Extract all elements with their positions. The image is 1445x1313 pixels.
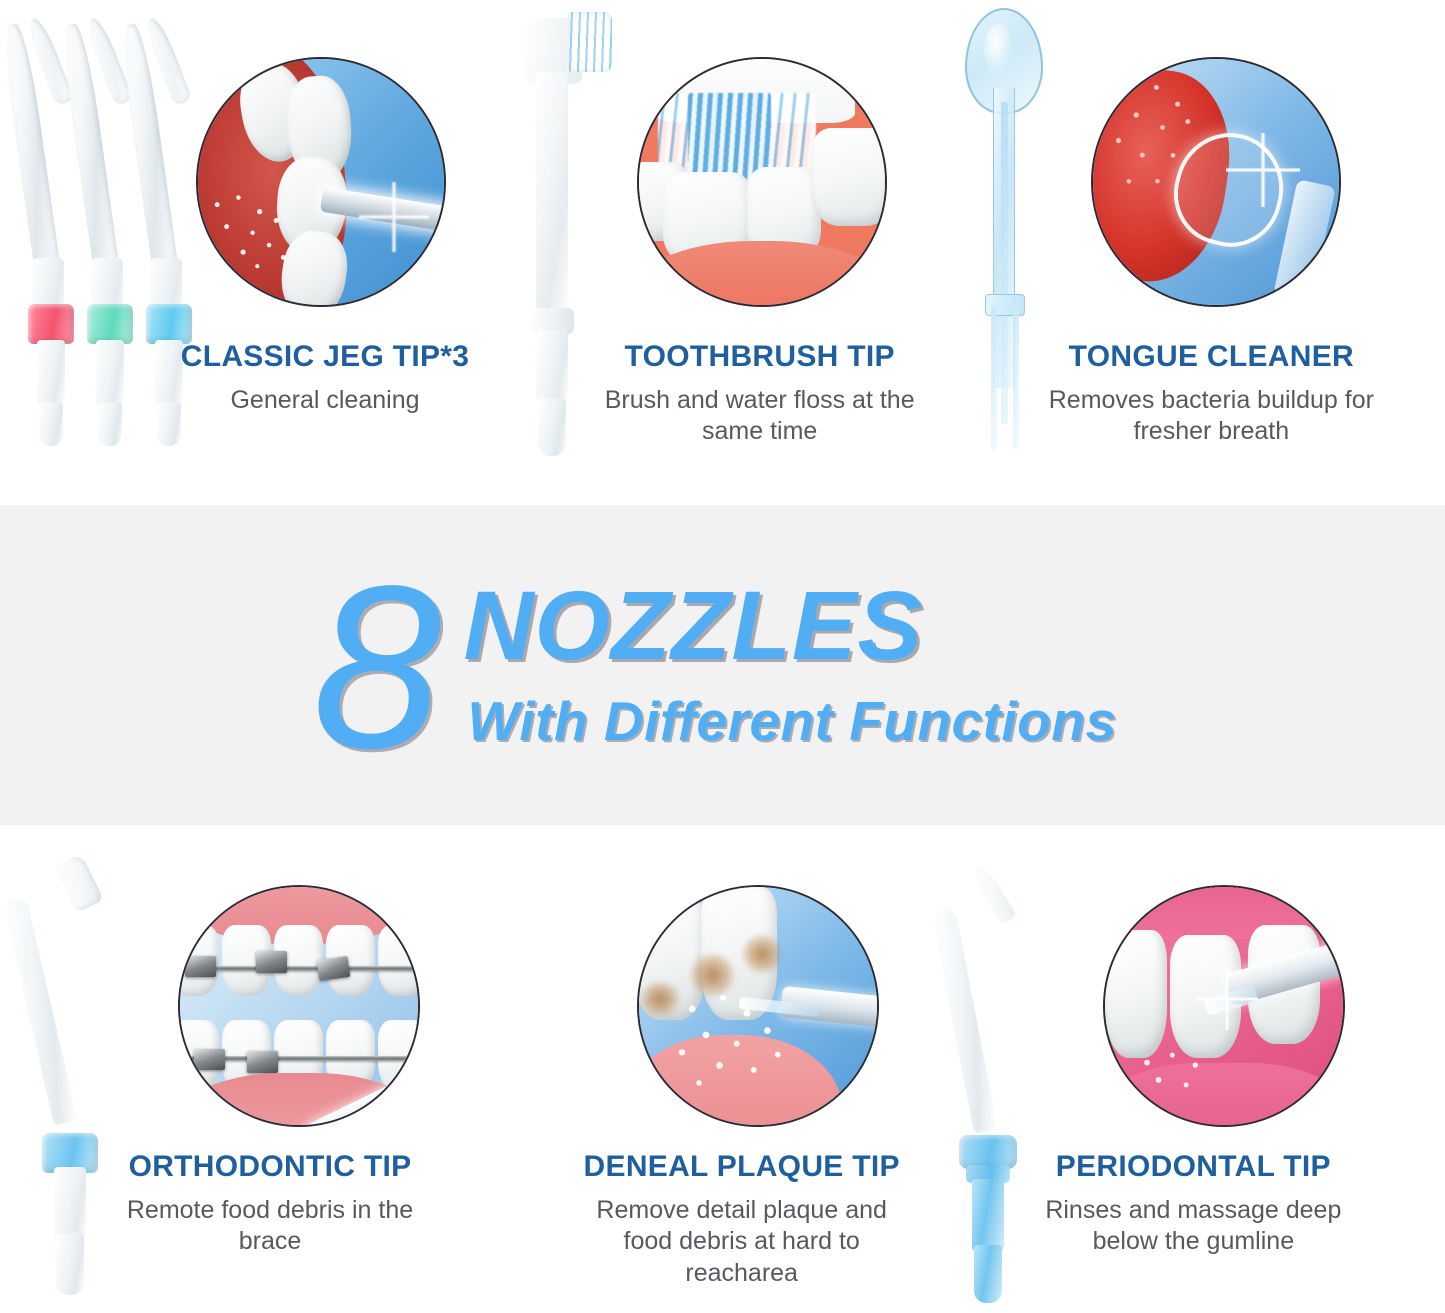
toothbrush-tip-title: TOOTHBRUSH TIP bbox=[560, 340, 960, 374]
tongue-cleaner-title: TONGUE CLEANER bbox=[1011, 340, 1411, 374]
feature-toothbrush-tip: TOOTHBRUSH TIP Brush and water floss at … bbox=[482, 0, 964, 505]
classic-jet-tip-icon bbox=[87, 22, 133, 442]
orthodontic-tip-title: ORTHODONTIC TIP bbox=[80, 1150, 460, 1184]
banner-headline: NOZZLES bbox=[463, 577, 1116, 676]
tongue-cleaner-caption: TONGUE CLEANER Removes bacteria buildup … bbox=[1011, 340, 1411, 448]
toothbrush-bristles-photo bbox=[637, 57, 887, 307]
nozzle-count-digit: 8 bbox=[312, 573, 437, 763]
feature-periodontal-tip: PERIODONTAL TIP Rinses and massage deep … bbox=[963, 825, 1445, 1313]
dental-plaque-tip-caption: DENEAL PLAQUE TIP Remove detail plaque a… bbox=[542, 1150, 942, 1289]
classic-jet-tip-caption: CLASSIC JEG TIP*3 General cleaning bbox=[130, 340, 520, 416]
dental-plaque-tip-title: DENEAL PLAQUE TIP bbox=[542, 1150, 942, 1184]
bottom-feature-row: ORTHODONTIC TIP Remote food debris in th… bbox=[0, 825, 1445, 1313]
infographic-page: CLASSIC JEG TIP*3 General cleaning bbox=[0, 0, 1445, 1313]
classic-jet-tip-description: General cleaning bbox=[130, 385, 520, 416]
tongue-cleaner-description: Removes bacteria buildup for fresher bre… bbox=[1031, 385, 1391, 448]
periodontal-tip-description: Rinses and massage deep below the gumlin… bbox=[1023, 1195, 1363, 1258]
banner-subheadline: With Different Functions bbox=[467, 689, 1116, 753]
feature-tongue-cleaner: TONGUE CLEANER Removes bacteria buildup … bbox=[963, 0, 1445, 505]
classic-jet-tip-icon bbox=[28, 22, 74, 442]
classic-jet-tip-product-area bbox=[0, 0, 222, 505]
nozzle-count-banner: 8 NOZZLES With Different Functions bbox=[0, 505, 1445, 825]
gumline-rinse-photo bbox=[1103, 885, 1345, 1127]
feature-orthodontic-tip: ORTHODONTIC TIP Remote food debris in th… bbox=[0, 825, 482, 1313]
feature-dental-plaque-tip: DENEAL PLAQUE TIP Remove detail plaque a… bbox=[482, 825, 964, 1313]
dental-plaque-tip-description: Remove detail plaque and food debris at … bbox=[572, 1195, 912, 1289]
feature-classic-jet-tip: CLASSIC JEG TIP*3 General cleaning bbox=[0, 0, 482, 505]
orthodontic-tip-caption: ORTHODONTIC TIP Remote food debris in th… bbox=[80, 1150, 460, 1258]
gums-water-jet-photo bbox=[196, 57, 446, 307]
orthodontic-tip-description: Remote food debris in the brace bbox=[120, 1195, 420, 1258]
top-feature-row: CLASSIC JEG TIP*3 General cleaning bbox=[0, 0, 1445, 505]
toothbrush-tip-description: Brush and water floss at the same time bbox=[605, 385, 915, 448]
tongue-scraper-photo bbox=[1091, 57, 1341, 307]
periodontal-tip-caption: PERIODONTAL TIP Rinses and massage deep … bbox=[998, 1150, 1388, 1258]
plaque-spray-photo bbox=[637, 885, 879, 1127]
classic-jet-tip-title: CLASSIC JEG TIP*3 bbox=[130, 340, 520, 374]
periodontal-tip-title: PERIODONTAL TIP bbox=[998, 1150, 1388, 1184]
toothbrush-tip-caption: TOOTHBRUSH TIP Brush and water floss at … bbox=[560, 340, 960, 448]
braces-cleaning-photo bbox=[178, 885, 420, 1127]
